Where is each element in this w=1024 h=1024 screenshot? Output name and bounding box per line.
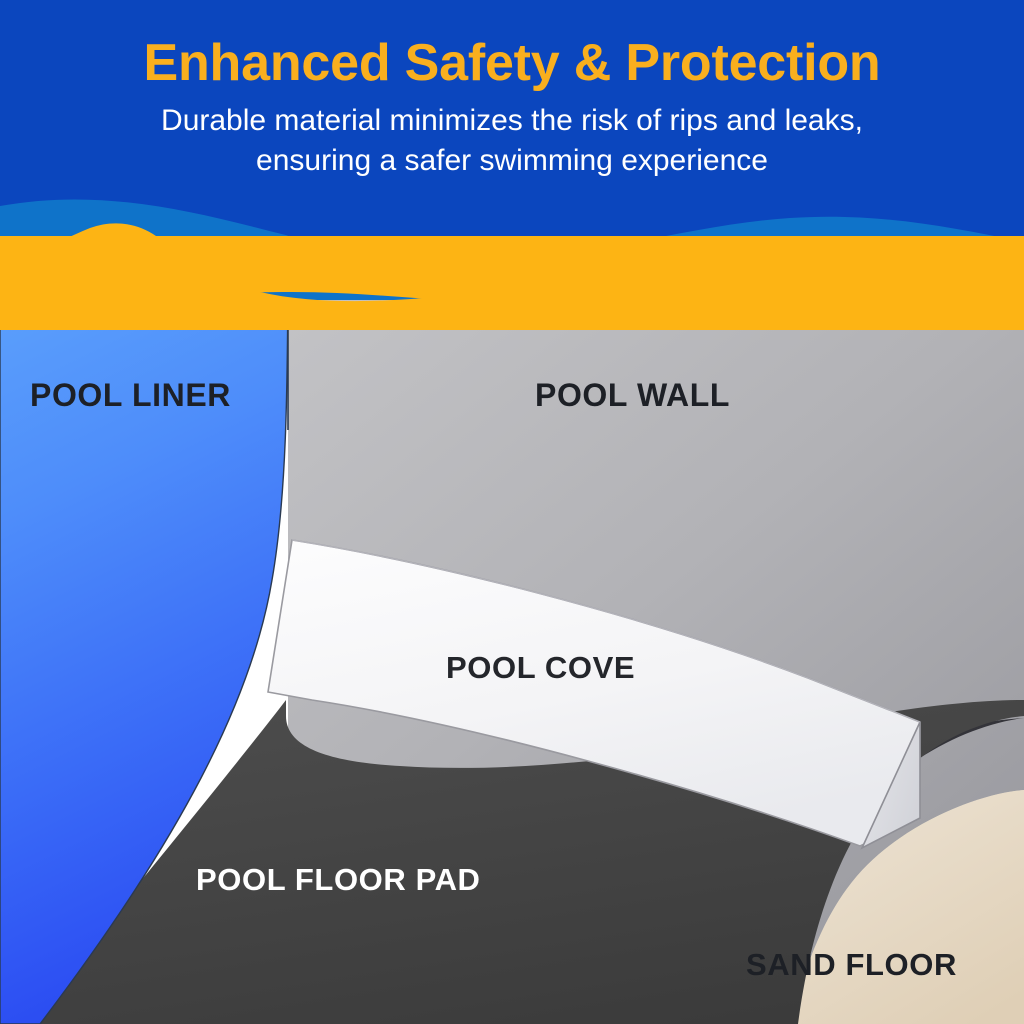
infographic-canvas: Enhanced Safety & Protection Durable mat… [0,0,1024,1024]
pool-cross-section-diagram [0,0,1024,1024]
header-background [0,0,1024,236]
